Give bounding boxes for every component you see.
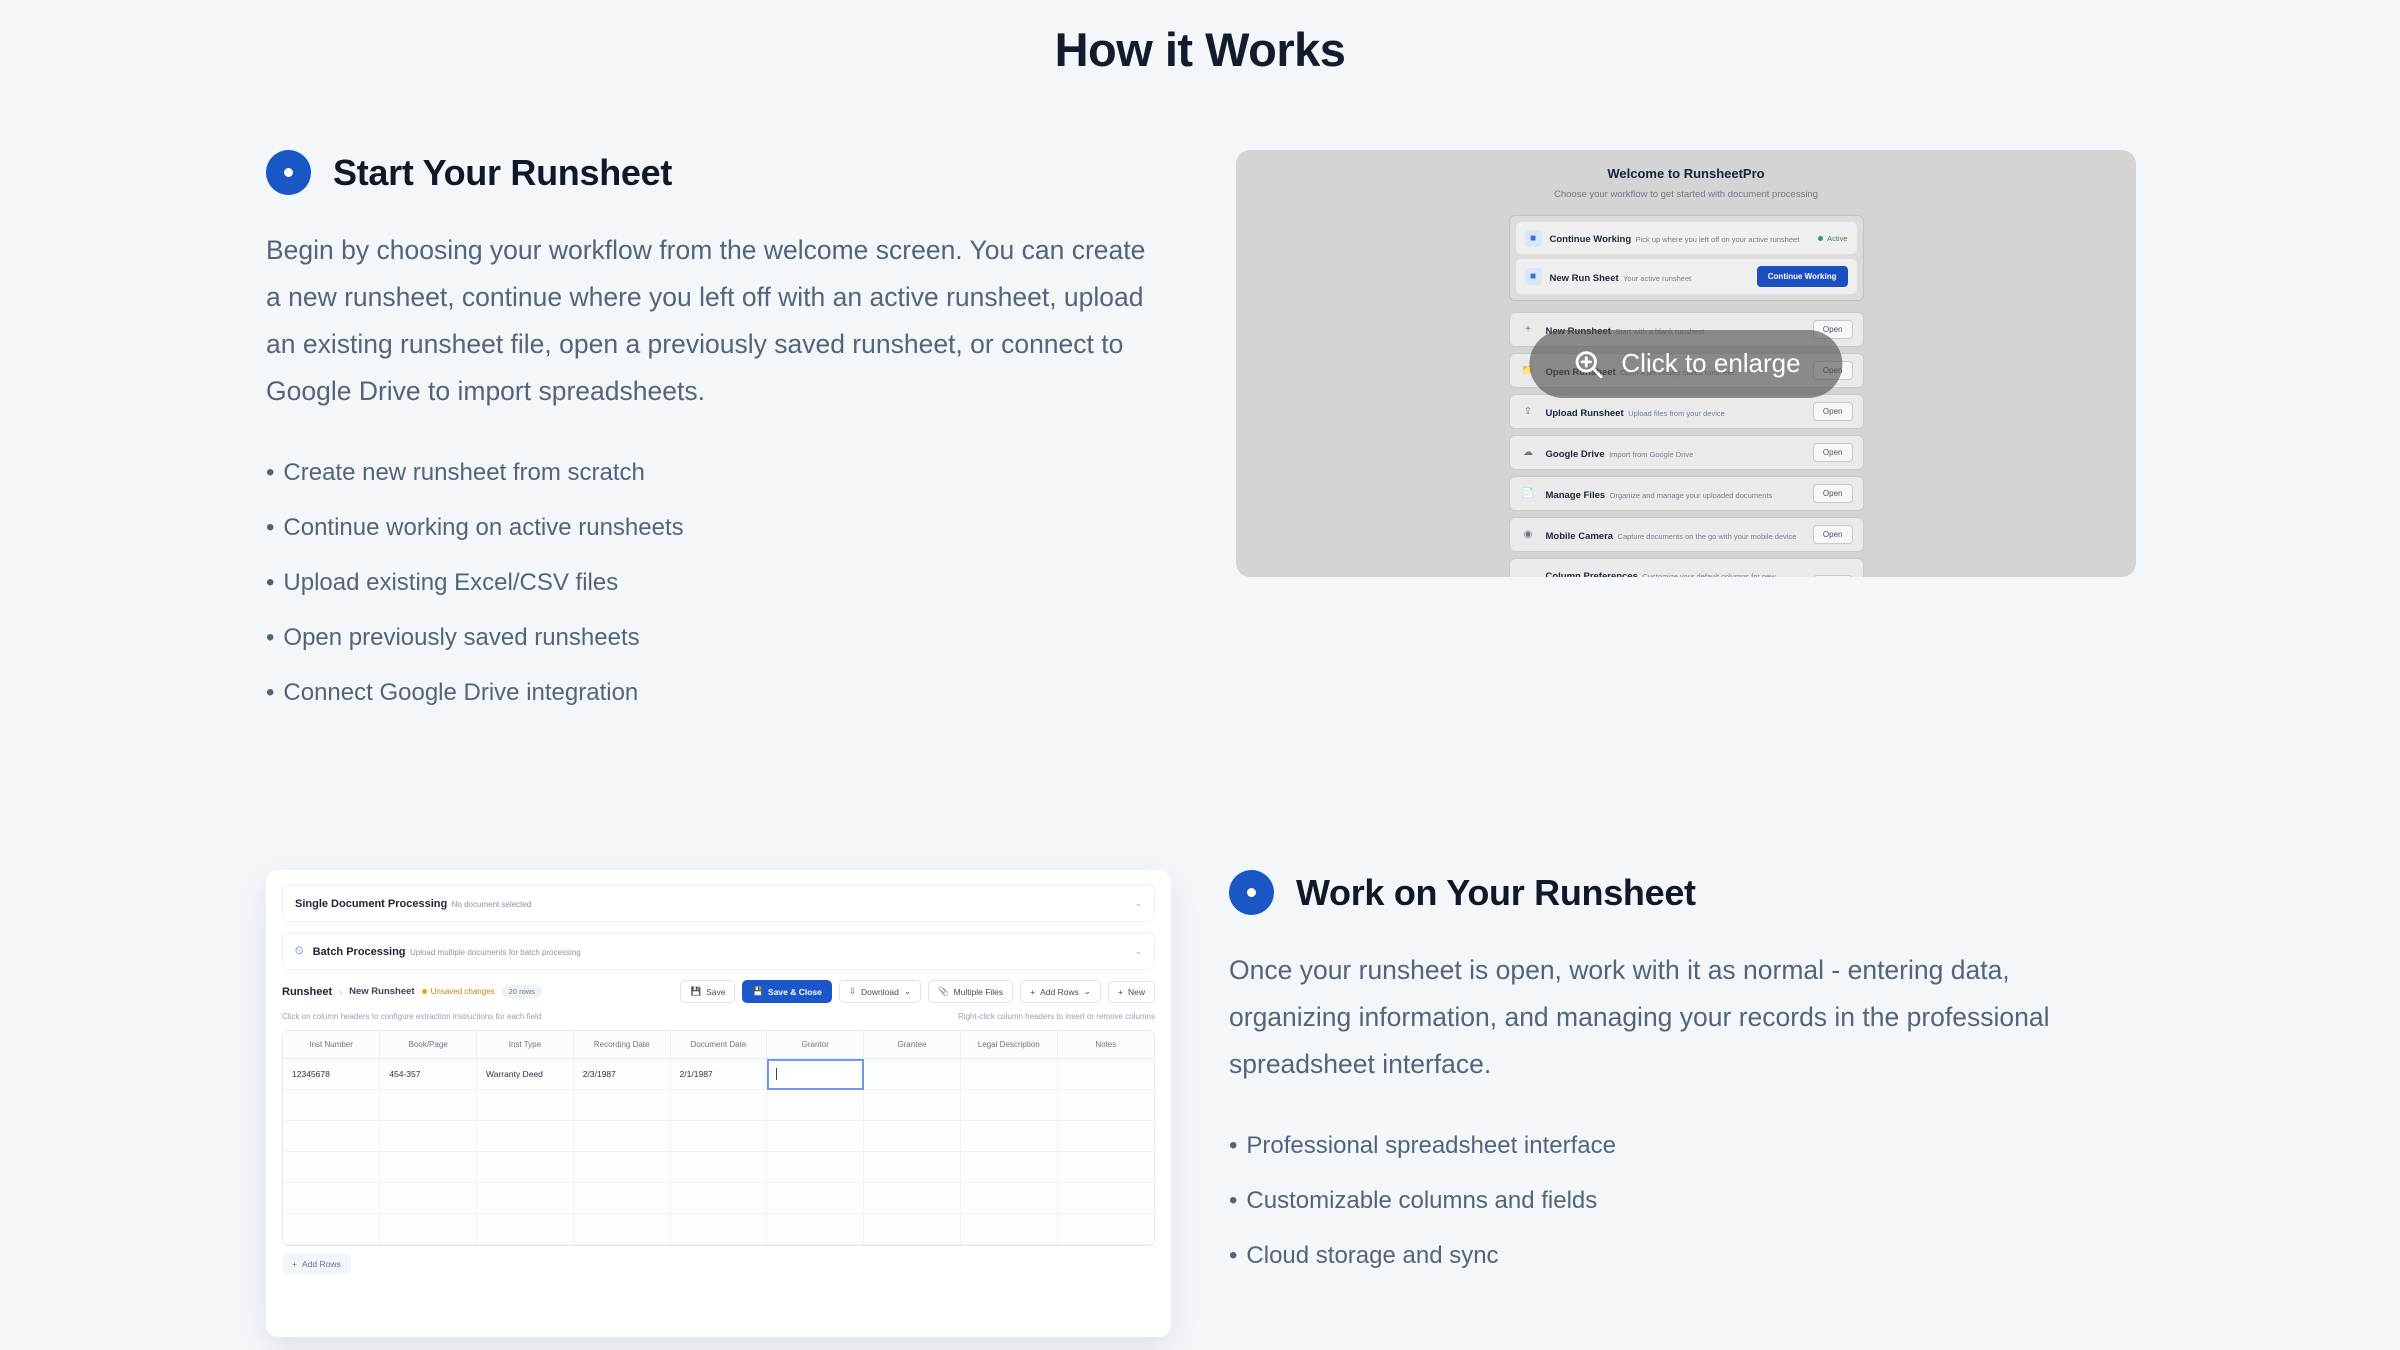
multiple-files-button-label: Multiple Files [954, 987, 1004, 997]
cell[interactable] [1057, 1121, 1154, 1152]
workflow-item-title: Mobile Camera [1546, 531, 1614, 542]
cell[interactable] [960, 1214, 1057, 1245]
workflow-item-manage-files[interactable]: 📄 Manage Files Organize and manage your … [1509, 476, 1864, 511]
cell[interactable] [283, 1214, 380, 1245]
table-header-row: Inst Number Book/Page Inst Type Recordin… [283, 1031, 1154, 1059]
workflow-item-description: Import from Google Drive [1609, 450, 1693, 459]
add-rows-footer-label: Add Rows [302, 1259, 341, 1269]
list-item: •Open previously saved runsheets [266, 610, 1156, 665]
cell[interactable] [767, 1214, 864, 1245]
list-item-label: Continue working on active runsheets [283, 514, 683, 541]
cell[interactable] [380, 1152, 477, 1183]
cell-inst-type[interactable]: Warranty Deed [477, 1059, 574, 1090]
table-row [283, 1214, 1154, 1245]
cell[interactable] [477, 1214, 574, 1245]
add-rows-button-label: Add Rows [1040, 987, 1079, 997]
list-item-label: Open previously saved runsheets [283, 624, 639, 651]
cell[interactable] [767, 1090, 864, 1121]
cell[interactable] [864, 1152, 961, 1183]
section-1-heading: Start Your Runsheet [266, 150, 1156, 195]
section-2-text-column: Work on Your Runsheet Once your runsheet… [1229, 870, 2134, 1283]
column-header-grantee[interactable]: Grantee [864, 1031, 961, 1059]
cell[interactable] [1057, 1214, 1154, 1245]
action-buttons: 💾Save 💾Save & Close ⇩Download⌄ 📎Multiple… [680, 980, 1155, 1003]
workflow-item-google-drive[interactable]: ☁ Google Drive Import from Google Drive … [1509, 435, 1864, 470]
table-row [283, 1183, 1154, 1214]
paperclip-icon: 📎 [938, 986, 949, 997]
download-button-label: Download [861, 987, 899, 997]
section-2-paragraph: Once your runsheet is open, work with it… [1229, 947, 2134, 1088]
continue-working-row[interactable]: ■ Continue Working Pick up where you lef… [1516, 222, 1857, 254]
workflow-item-description: Capture documents on the go with your mo… [1618, 532, 1797, 541]
welcome-screenshot-image: Welcome to RunsheetPro Choose your workf… [1236, 150, 2136, 577]
cell[interactable] [767, 1183, 864, 1214]
upload-icon: ⇧ [1520, 403, 1537, 420]
section-1-text-column: Start Your Runsheet Begin by choosing yo… [266, 150, 1156, 720]
cell-document-date[interactable]: 2/1/1987 [670, 1059, 767, 1090]
cell[interactable] [380, 1214, 477, 1245]
cell[interactable] [573, 1121, 670, 1152]
dot-icon [266, 150, 311, 195]
click-to-enlarge-label: Click to enlarge [1621, 348, 1800, 379]
column-header-grantor[interactable]: Grantor [767, 1031, 864, 1059]
cell-recording-date[interactable]: 2/3/1987 [573, 1059, 670, 1090]
welcome-subtitle: Choose your workflow to get started with… [1236, 181, 2136, 200]
batch-title: Batch Processing [313, 946, 406, 958]
hint-right: Right-click column headers to insert or … [958, 1012, 1155, 1021]
single-doc-description: No document selected [452, 900, 532, 909]
cell-grantee[interactable] [864, 1059, 961, 1090]
section-2-bullet-list: •Professional spreadsheet interface •Cus… [1229, 1118, 2134, 1283]
plus-icon: + [292, 1259, 297, 1269]
status-badge-label: Active [1827, 234, 1847, 243]
page-title: How it Works [0, 0, 2400, 77]
cell[interactable] [670, 1121, 767, 1152]
camera-icon: ◉ [1520, 526, 1537, 543]
cell[interactable] [477, 1090, 574, 1121]
plus-icon: + [1520, 321, 1537, 338]
table-hints: Click on column headers to configure ext… [282, 1012, 1155, 1021]
cell[interactable] [1057, 1090, 1154, 1121]
bullet-marker: • [266, 459, 274, 486]
magnifier-plus-icon [1571, 347, 1605, 381]
bullet-marker: • [266, 569, 274, 596]
bullet-marker: • [1229, 1242, 1237, 1269]
download-icon: ⇩ [849, 986, 856, 997]
status-badge: Active [1818, 234, 1847, 243]
workflow-item-description: Upload files from your device [1628, 409, 1725, 418]
list-item-label: Connect Google Drive integration [283, 679, 638, 706]
single-document-processing-card[interactable]: Single Document Processing No document s… [282, 884, 1155, 922]
single-doc-title: Single Document Processing [295, 898, 447, 910]
continue-working-button[interactable]: Continue Working [1757, 266, 1848, 287]
cell[interactable] [864, 1090, 961, 1121]
multiple-files-button[interactable]: 📎Multiple Files [928, 980, 1013, 1003]
row-count-badge: 20 rows [502, 985, 542, 998]
section-1-bullet-list: •Create new runsheet from scratch •Conti… [266, 445, 1156, 720]
cell[interactable] [960, 1090, 1057, 1121]
section-2-title: Work on Your Runsheet [1296, 872, 1696, 914]
document-icon: ■ [1525, 230, 1542, 247]
new-button-label: New [1128, 987, 1145, 997]
list-item-label: Create new runsheet from scratch [283, 459, 645, 486]
cell-book-page[interactable]: 454-357 [380, 1059, 477, 1090]
list-item: •Customizable columns and fields [1229, 1173, 2134, 1228]
save-and-close-button[interactable]: 💾Save & Close [742, 980, 831, 1003]
cell[interactable] [864, 1183, 961, 1214]
chevron-down-icon[interactable]: ⌄ [1134, 946, 1142, 957]
save-button-label: Save [706, 987, 725, 997]
list-item: •Create new runsheet from scratch [266, 445, 1156, 500]
section-1-paragraph: Begin by choosing your workflow from the… [266, 227, 1156, 415]
cell[interactable] [477, 1152, 574, 1183]
how-it-works-page: How it Works Start Your Runsheet Begin b… [0, 0, 2400, 1350]
cell[interactable] [670, 1152, 767, 1183]
cell[interactable] [283, 1152, 380, 1183]
column-header-document-date[interactable]: Document Date [670, 1031, 767, 1059]
clock-icon: ⏲ [295, 945, 304, 958]
cell[interactable] [283, 1121, 380, 1152]
workflow-item-upload-runsheet[interactable]: ⇧ Upload Runsheet Upload files from your… [1509, 394, 1864, 429]
cell[interactable] [670, 1090, 767, 1121]
workflow-item-description: Organize and manage your uploaded docume… [1610, 491, 1773, 500]
table-row [283, 1121, 1154, 1152]
workflow-item-column-preferences[interactable]: ◫ Column Preferences Customize your defa… [1509, 558, 1864, 577]
cell[interactable] [767, 1152, 864, 1183]
column-header-inst-type[interactable]: Inst Type [477, 1031, 574, 1059]
workflow-item-title: Upload Runsheet [1546, 408, 1624, 419]
batch-processing-card[interactable]: ⏲ Batch Processing Upload multiple docum… [282, 932, 1155, 970]
save-button[interactable]: 💾Save [680, 980, 735, 1003]
runsheet-toolbar: Runsheet › New Runsheet Unsaved changes … [282, 980, 1155, 1003]
list-item-label: Professional spreadsheet interface [1246, 1132, 1616, 1159]
section-1-title: Start Your Runsheet [333, 152, 672, 194]
cell[interactable] [573, 1090, 670, 1121]
column-header-inst-number[interactable]: Inst Number [283, 1031, 380, 1059]
column-header-book-page[interactable]: Book/Page [380, 1031, 477, 1059]
cell-legal-description[interactable] [960, 1059, 1057, 1090]
add-rows-button[interactable]: +Add Rows⌄ [1020, 980, 1101, 1003]
bullet-marker: • [266, 679, 274, 706]
section-work-on-your-runsheet: Single Document Processing No document s… [266, 870, 2136, 1337]
cell[interactable] [477, 1121, 574, 1152]
active-runsheet-row[interactable]: ■ New Run Sheet Your active runsheet Con… [1516, 259, 1857, 294]
welcome-title: Welcome to RunsheetPro [1236, 150, 2136, 181]
spreadsheet-screenshot-thumbnail[interactable]: Single Document Processing No document s… [266, 870, 1171, 1337]
cell[interactable] [864, 1214, 961, 1245]
cell[interactable] [1057, 1152, 1154, 1183]
breadcrumb-current: New Runsheet [349, 986, 414, 997]
save-icon: 💾 [752, 986, 763, 997]
table-row [283, 1090, 1154, 1121]
cell[interactable] [864, 1121, 961, 1152]
breadcrumb-root[interactable]: Runsheet [282, 986, 332, 998]
active-runsheet-description: Your active runsheet [1623, 274, 1691, 283]
cell-notes[interactable] [1057, 1059, 1154, 1090]
add-rows-footer-button[interactable]: + Add Rows [282, 1254, 351, 1274]
plus-icon: + [1030, 987, 1035, 997]
table-row [283, 1152, 1154, 1183]
open-button[interactable]: Open [1813, 525, 1853, 544]
list-item-label: Customizable columns and fields [1246, 1187, 1597, 1214]
unsaved-changes-label: Unsaved changes [431, 987, 495, 996]
list-item: •Connect Google Drive integration [266, 665, 1156, 720]
workflow-item-title: Column Preferences [1546, 571, 1638, 577]
cell[interactable] [767, 1121, 864, 1152]
active-runsheet-name: New Run Sheet [1550, 273, 1619, 284]
dot-icon [1229, 870, 1274, 915]
cell[interactable] [670, 1214, 767, 1245]
table-row: 12345678 454-357 Warranty Deed 2/3/1987 … [283, 1059, 1154, 1090]
text-cursor [776, 1068, 777, 1080]
cell-grantor-selected[interactable] [767, 1059, 864, 1090]
cell[interactable] [573, 1214, 670, 1245]
cell[interactable] [380, 1183, 477, 1214]
list-item: •Professional spreadsheet interface [1229, 1118, 2134, 1173]
new-button[interactable]: +New [1108, 981, 1155, 1003]
list-item-label: Upload existing Excel/CSV files [283, 569, 618, 596]
bullet-marker: • [266, 514, 274, 541]
plus-icon: + [1118, 987, 1123, 997]
cloud-icon: ☁ [1520, 444, 1537, 461]
list-item: •Upload existing Excel/CSV files [266, 555, 1156, 610]
chevron-down-icon: ⌄ [1084, 986, 1091, 997]
open-button[interactable]: Open [1813, 575, 1853, 578]
column-header-legal-description[interactable]: Legal Description [960, 1031, 1057, 1059]
workflow-item-title: Manage Files [1546, 490, 1606, 501]
cell[interactable] [573, 1152, 670, 1183]
column-header-recording-date[interactable]: Recording Date [573, 1031, 670, 1059]
continue-working-panel: ■ Continue Working Pick up where you lef… [1509, 215, 1864, 301]
save-icon: 💾 [690, 986, 701, 997]
open-button[interactable]: Open [1813, 484, 1853, 503]
section-start-your-runsheet: Start Your Runsheet Begin by choosing yo… [266, 150, 2136, 720]
runsheet-table: Inst Number Book/Page Inst Type Recordin… [282, 1030, 1155, 1246]
cell[interactable] [283, 1090, 380, 1121]
spreadsheet-screenshot-image: Single Document Processing No document s… [266, 870, 1171, 1337]
continue-working-title: Continue Working [1550, 234, 1632, 245]
list-item: •Continue working on active runsheets [266, 500, 1156, 555]
cell[interactable] [960, 1121, 1057, 1152]
breadcrumb: Runsheet › New Runsheet Unsaved changes … [282, 985, 542, 998]
columns-icon: ◫ [1520, 576, 1537, 578]
click-to-enlarge-overlay[interactable]: Click to enlarge [1529, 330, 1842, 398]
unsaved-changes-badge: Unsaved changes [422, 987, 495, 996]
open-button[interactable]: Open [1813, 402, 1853, 421]
welcome-screenshot-thumbnail[interactable]: Welcome to RunsheetPro Choose your workf… [1236, 150, 2136, 577]
save-and-close-button-label: Save & Close [768, 987, 822, 997]
document-icon: 📄 [1520, 485, 1537, 502]
cell[interactable] [380, 1090, 477, 1121]
cell[interactable] [670, 1183, 767, 1214]
batch-description: Upload multiple documents for batch proc… [410, 948, 581, 957]
cell[interactable] [960, 1152, 1057, 1183]
workflow-item-mobile-camera[interactable]: ◉ Mobile Camera Capture documents on the… [1509, 517, 1864, 552]
list-item: •Cloud storage and sync [1229, 1228, 2134, 1283]
bullet-marker: • [1229, 1187, 1237, 1214]
bullet-marker: • [1229, 1132, 1237, 1159]
download-button[interactable]: ⇩Download⌄ [839, 980, 921, 1003]
cell-inst-number[interactable]: 12345678 [283, 1059, 380, 1090]
cell[interactable] [477, 1183, 574, 1214]
cell[interactable] [960, 1183, 1057, 1214]
bullet-marker: • [266, 624, 274, 651]
hint-left: Click on column headers to configure ext… [282, 1012, 541, 1021]
cell[interactable] [283, 1183, 380, 1214]
section-2-heading: Work on Your Runsheet [1229, 870, 2134, 915]
cell[interactable] [1057, 1183, 1154, 1214]
workflow-item-title: Google Drive [1546, 449, 1605, 460]
document-icon: ■ [1525, 268, 1542, 285]
cell[interactable] [573, 1183, 670, 1214]
chevron-down-icon: ⌄ [904, 986, 911, 997]
open-button[interactable]: Open [1813, 443, 1853, 462]
breadcrumb-separator: › [339, 987, 342, 997]
continue-working-description: Pick up where you left off on your activ… [1636, 235, 1800, 244]
column-header-notes[interactable]: Notes [1057, 1031, 1154, 1059]
chevron-down-icon[interactable]: ⌄ [1134, 898, 1142, 909]
cell[interactable] [380, 1121, 477, 1152]
list-item-label: Cloud storage and sync [1246, 1242, 1498, 1269]
